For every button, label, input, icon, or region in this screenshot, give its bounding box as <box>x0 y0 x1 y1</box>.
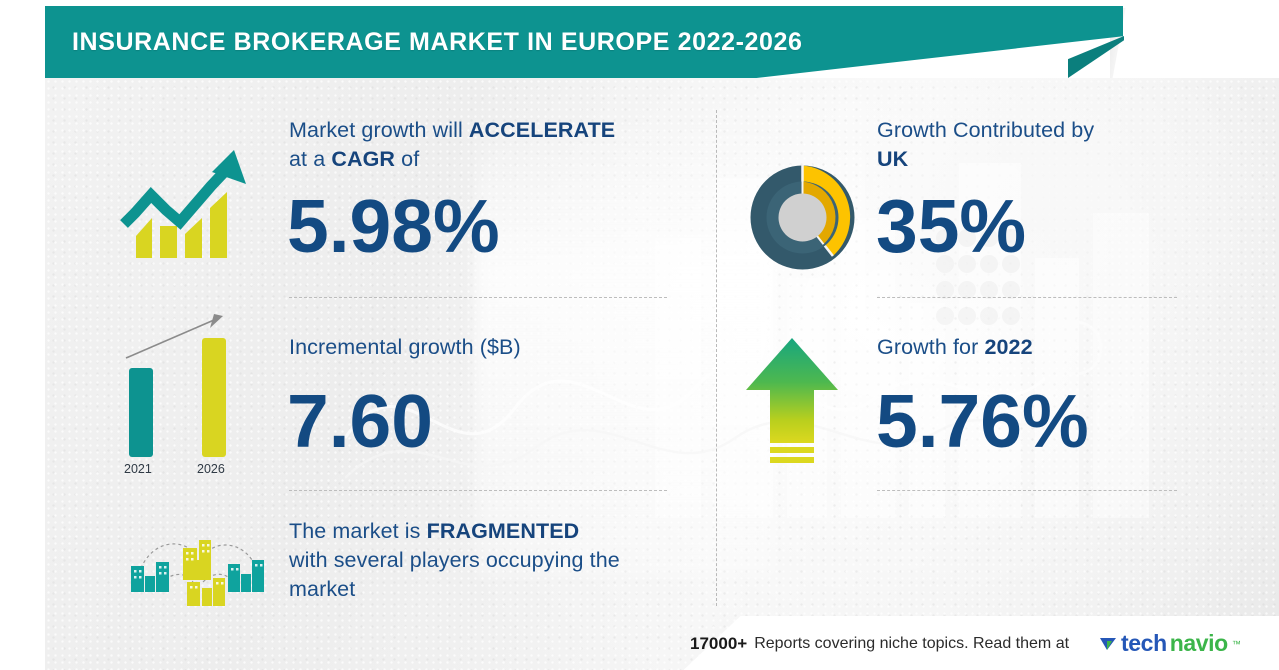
cagr-label-line2-post: of <box>395 147 419 171</box>
right-divider-1 <box>877 297 1177 298</box>
incremental-growth-value: 7.60 <box>287 382 433 460</box>
city-buildings-network-icon <box>125 522 270 607</box>
growth-contribution-label: Growth Contributed by UK <box>877 116 1167 174</box>
market-structure-label: The market is FRAGMENTED with several pl… <box>289 517 684 604</box>
right-divider-2 <box>877 490 1177 491</box>
incremental-growth-label: Incremental growth ($B) <box>289 333 521 362</box>
growth-arrow-bar-chart-icon <box>118 140 253 265</box>
two-bar-trend-chart-icon: 2021 2026 <box>118 306 248 481</box>
growth-2022-value: 5.76% <box>876 382 1089 460</box>
growth-contribution-line1: Growth Contributed by <box>877 118 1094 142</box>
market-structure-line2: with several players occupying the <box>289 548 620 572</box>
footer-tagline: Reports covering niche topics. Read them… <box>754 635 1069 653</box>
growth-2022-label-pre: Growth for <box>877 335 984 359</box>
technavio-logo[interactable]: technavio™ <box>1098 630 1241 657</box>
up-arrow-icon <box>740 330 860 475</box>
left-divider-1 <box>289 297 667 298</box>
market-structure-line1-pre: The market is <box>289 519 427 543</box>
market-structure-line3: market <box>289 577 355 601</box>
cagr-label-line2-pre: at a <box>289 147 331 171</box>
logo-text-navio: navio <box>1170 630 1228 657</box>
logo-trademark: ™ <box>1232 639 1241 649</box>
market-structure-line1-bold: FRAGMENTED <box>427 519 580 543</box>
bar-label-2026: 2026 <box>197 462 225 476</box>
cagr-label-line1-pre: Market growth will <box>289 118 469 142</box>
growth-contribution-line2-bold: UK <box>877 147 908 171</box>
infographic-canvas: INSURANCE BROKERAGE MARKET IN EUROPE 202… <box>0 0 1279 670</box>
growth-2022-label: Growth for 2022 <box>877 333 1033 362</box>
bar-label-2021: 2021 <box>124 462 152 476</box>
growth-2022-label-bold: 2022 <box>984 335 1032 359</box>
cagr-value: 5.98% <box>287 187 500 265</box>
page-title: INSURANCE BROKERAGE MARKET IN EUROPE 202… <box>72 28 803 57</box>
donut-chart-icon <box>740 155 865 280</box>
column-divider <box>716 110 717 606</box>
reports-count: 17000+ <box>690 634 747 654</box>
cagr-label: Market growth will ACCELERATE at a CAGR … <box>289 116 689 174</box>
left-divider-2 <box>289 490 667 491</box>
footer-content: 17000+ Reports covering niche topics. Re… <box>690 630 1241 657</box>
cagr-label-line1-bold: ACCELERATE <box>469 118 615 142</box>
growth-contribution-value: 35% <box>876 187 1026 265</box>
logo-text-tech: tech <box>1121 630 1167 657</box>
header-bar: INSURANCE BROKERAGE MARKET IN EUROPE 202… <box>45 6 1123 78</box>
cagr-label-line2-bold: CAGR <box>331 147 395 171</box>
technavio-flag-icon <box>1098 634 1118 654</box>
